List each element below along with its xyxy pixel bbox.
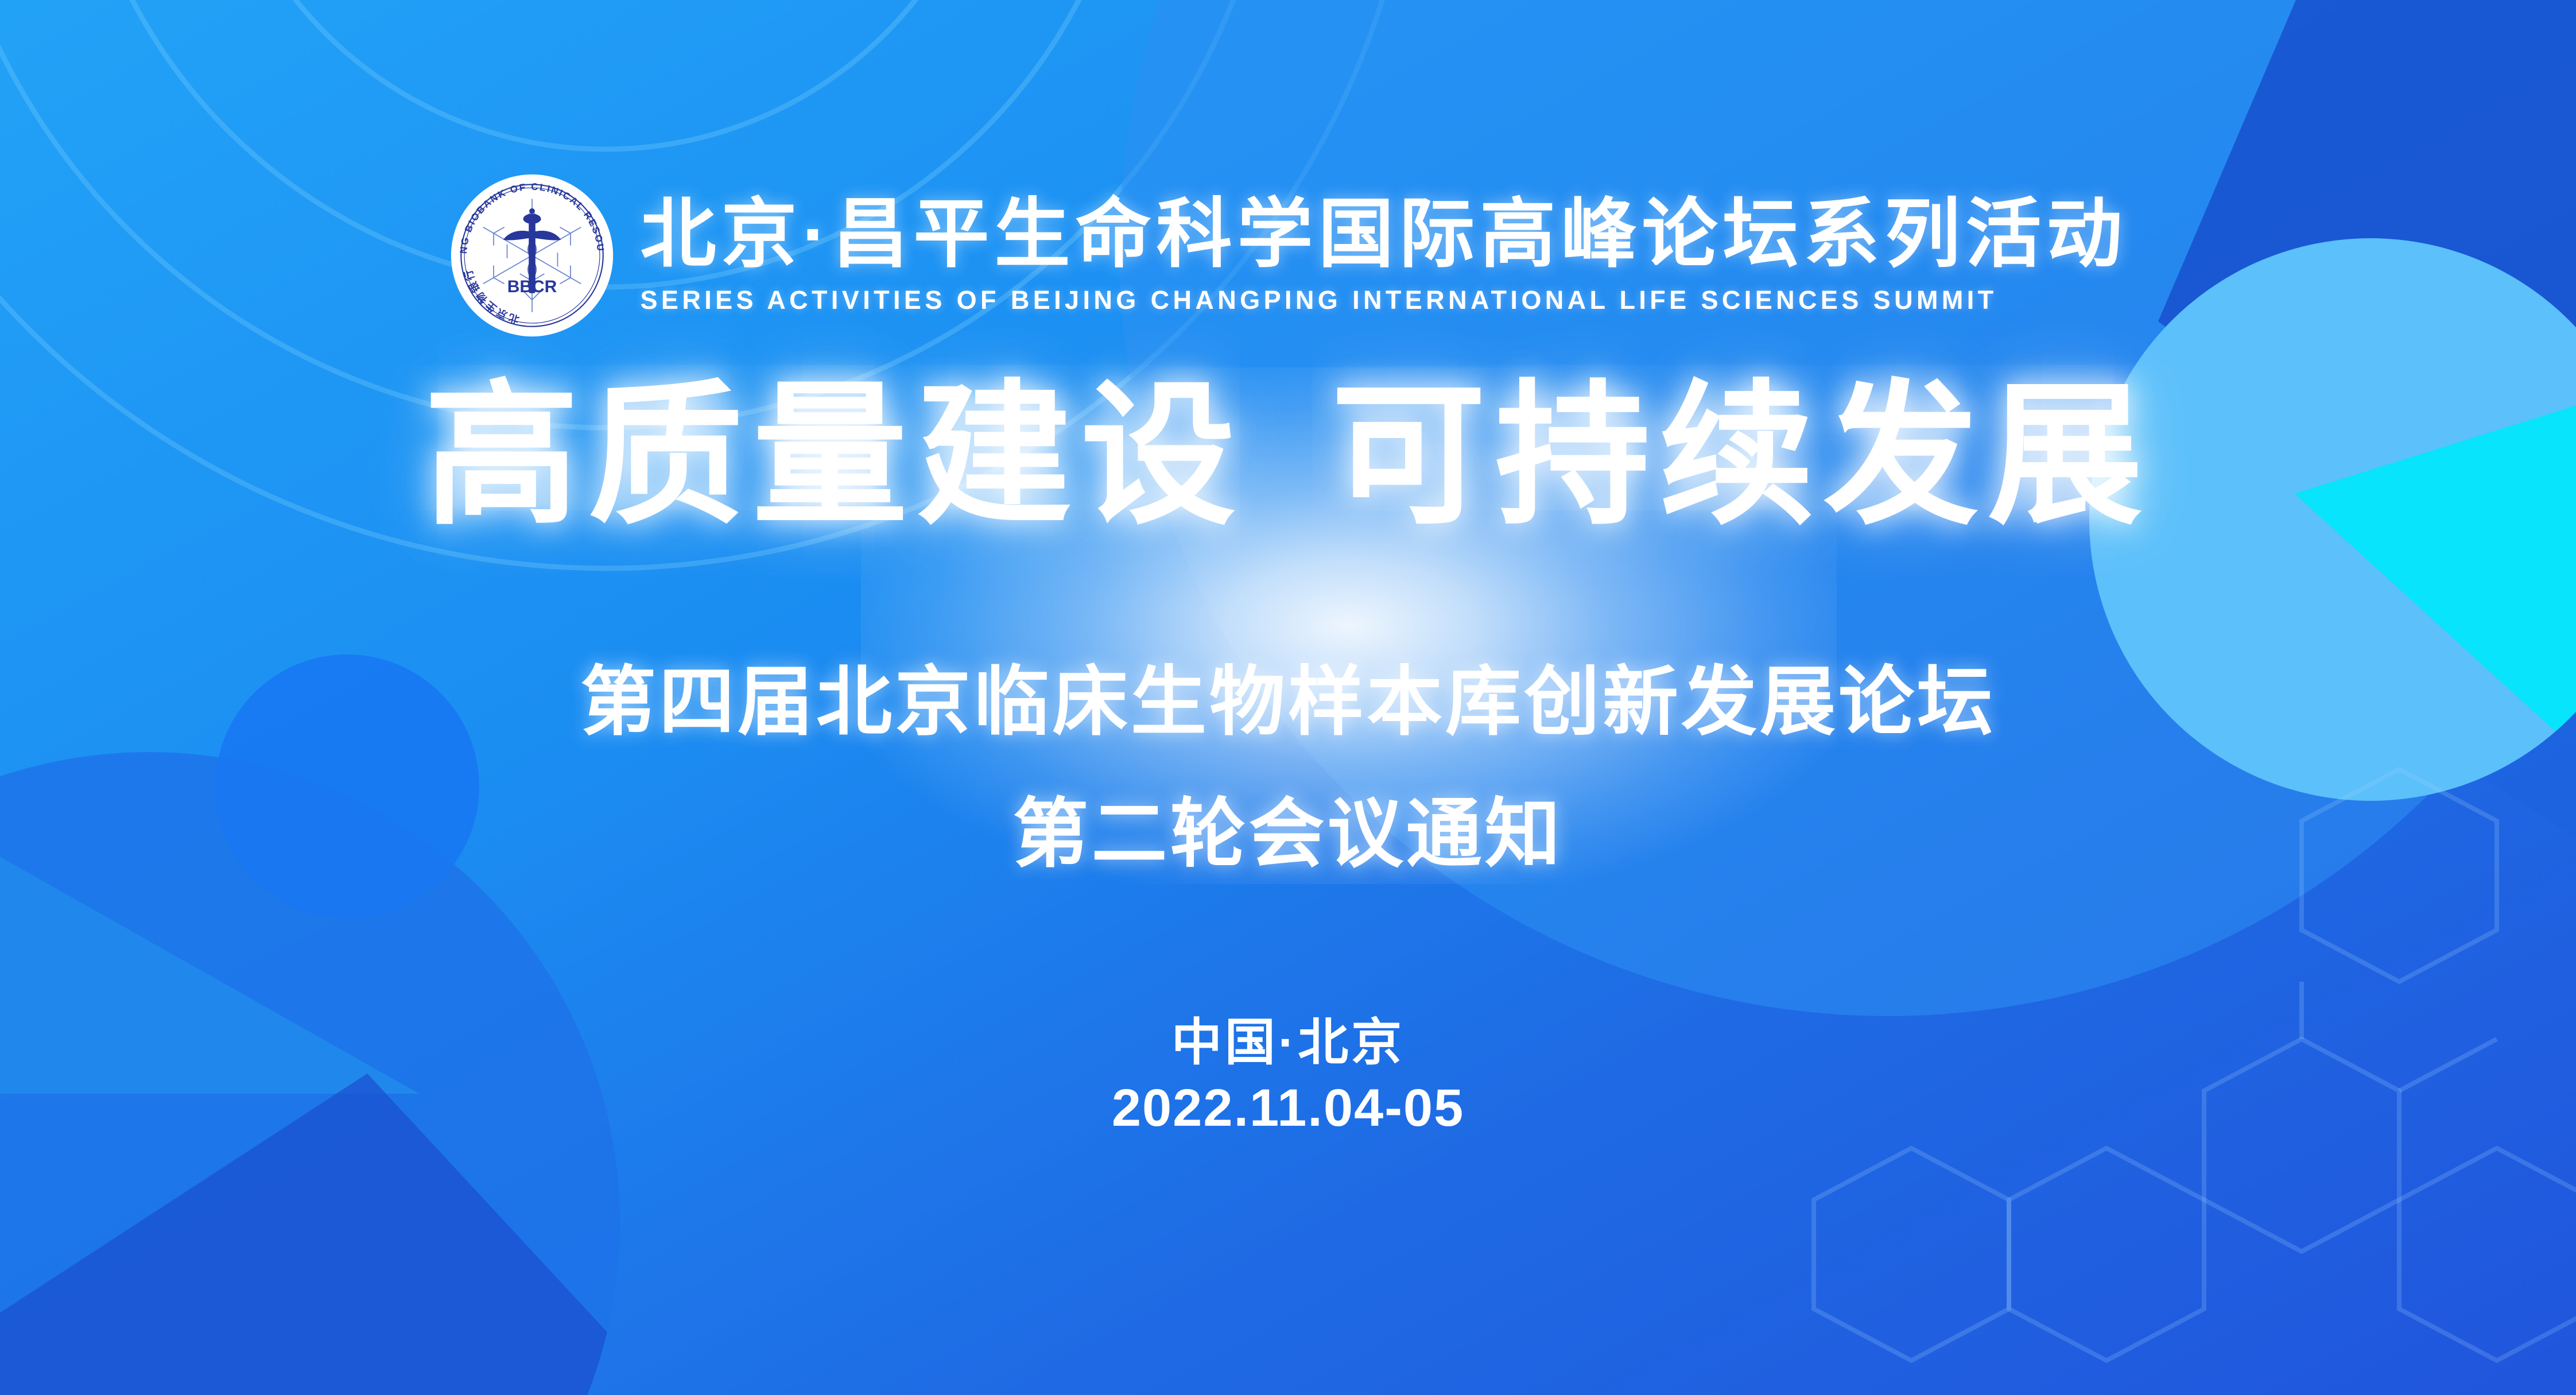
forum-subtitle-line-1: 第四届北京临床生物样本库创新发展论坛 <box>0 654 2576 749</box>
event-date: 2022.11.04-05 <box>0 1078 2576 1138</box>
org-title-en: SERIES ACTIVITIES OF BEIJING CHANGPING I… <box>641 284 2128 317</box>
bbcr-seal-logo-icon: BEIJING BIOBANK OF CLINICAL RESOURCES 北京… <box>449 172 615 339</box>
org-title-cn: 北京·昌平生命科学国际高峰论坛系列活动 <box>641 193 2128 276</box>
brand-text-block: 北京·昌平生命科学国际高峰论坛系列活动 SERIES ACTIVITIES OF… <box>641 193 2128 317</box>
event-venue: 中国·北京 <box>0 1002 2576 1075</box>
headline-part-1: 高质量建设 <box>424 370 1245 542</box>
forum-subtitle-line-2: 第二轮会议通知 <box>0 786 2576 881</box>
logo-acronym: BBCR <box>507 277 557 296</box>
headline-part-2: 可持续发展 <box>1331 370 2152 542</box>
banner-content: BEIJING BIOBANK OF CLINICAL RESOURCES 北京… <box>0 0 2576 1395</box>
brand-row: BEIJING BIOBANK OF CLINICAL RESOURCES 北京… <box>0 172 2576 339</box>
main-headline: 高质量建设可持续发展 <box>0 379 2576 534</box>
